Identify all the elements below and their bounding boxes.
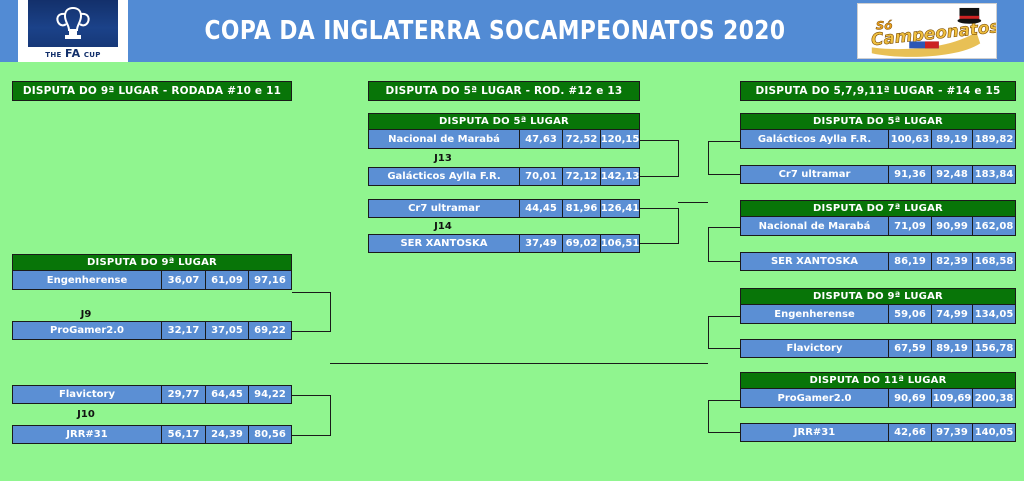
banner-right: DISPUTA DO 5,7,9,11ª LUGAR - #14 e 15: [740, 81, 1016, 101]
leg1-score: 36,07: [161, 271, 205, 289]
center-match-j13-row2: Galácticos Aylla F.R. 70,01 72,12 142,13: [368, 167, 640, 186]
right-group-7: DISPUTA DO 7ª LUGAR Nacional de Marabá 7…: [740, 200, 1016, 236]
right-group-title: DISPUTA DO 11ª LUGAR: [740, 372, 1016, 389]
total-score: 94,22: [248, 386, 291, 403]
table-row[interactable]: Galácticos Aylla F.R. 70,01 72,12 142,13: [368, 167, 640, 186]
right-group-5: DISPUTA DO 5ª LUGAR Galácticos Aylla F.R…: [740, 113, 1016, 149]
right-group-9: DISPUTA DO 9ª LUGAR Engenherense 59,06 7…: [740, 288, 1016, 324]
leg2-score: 81,96: [562, 200, 600, 217]
leg2-score: 89,19: [931, 130, 972, 148]
leg1-score: 71,09: [888, 217, 931, 235]
team-name: JRR#31: [741, 424, 888, 441]
total-score: 106,51: [600, 235, 639, 252]
leg2-score: 64,45: [205, 386, 248, 403]
team-name: Engenherense: [741, 305, 888, 323]
center-match-j14-row2: SER XANTOSKA 37,49 69,02 106,51: [368, 234, 640, 253]
connector-line: [708, 432, 740, 433]
match-label: J10: [12, 409, 160, 420]
center-match-j14-row1: Cr7 ultramar 44,45 81,96 126,41: [368, 199, 640, 218]
connector-line: [708, 400, 740, 401]
team-name: Nacional de Marabá: [369, 130, 519, 148]
connector-line: [678, 202, 708, 203]
table-row[interactable]: ProGamer2.0 90,69 109,69 200,38: [740, 389, 1016, 408]
connector-line: [708, 348, 740, 349]
connector-line: [292, 395, 330, 396]
connector-line: [292, 435, 330, 436]
total-score: 162,08: [972, 217, 1015, 235]
page-header: THE FA CUP COPA DA INGLATERRA SOCAMPEONA…: [0, 0, 1024, 62]
table-row[interactable]: Flavictory 67,59 89,19 156,78: [740, 339, 1016, 358]
table-row[interactable]: Cr7 ultramar 91,36 92,48 183,84: [740, 165, 1016, 184]
left-match-j10-row2: JRR#31 56,17 24,39 80,56: [12, 425, 292, 444]
table-row[interactable]: Nacional de Marabá 47,63 72,52 120,15: [368, 130, 640, 149]
total-score: 140,05: [972, 424, 1015, 441]
table-row[interactable]: Engenherense 36,07 61,09 97,16: [12, 271, 292, 290]
team-name: Flavictory: [741, 340, 888, 357]
leg1-score: 37,49: [519, 235, 562, 252]
right-group-11: DISPUTA DO 11ª LUGAR ProGamer2.0 90,69 1…: [740, 372, 1016, 408]
leg2-score: 97,39: [931, 424, 972, 441]
leg2-score: 24,39: [205, 426, 248, 443]
connector-line: [640, 140, 678, 141]
connector-line: [708, 227, 709, 262]
total-score: 80,56: [248, 426, 291, 443]
leg2-score: 109,69: [931, 389, 972, 407]
connector-line: [708, 141, 740, 142]
team-name: Galácticos Aylla F.R.: [741, 130, 888, 148]
team-name: ProGamer2.0: [741, 389, 888, 407]
leg2-score: 61,09: [205, 271, 248, 289]
total-score: 168,58: [972, 253, 1015, 270]
right-group-title: DISPUTA DO 5ª LUGAR: [740, 113, 1016, 130]
leg1-score: 42,66: [888, 424, 931, 441]
left-group: DISPUTA DO 9ª LUGAR Engenherense 36,07 6…: [12, 254, 292, 290]
right-group-11-row2: JRR#31 42,66 97,39 140,05: [740, 423, 1016, 442]
connector-line: [708, 316, 709, 349]
table-row[interactable]: Galácticos Aylla F.R. 100,63 89,19 189,8…: [740, 130, 1016, 149]
leg1-score: 90,69: [888, 389, 931, 407]
table-row[interactable]: JRR#31 56,17 24,39 80,56: [12, 425, 292, 444]
leg2-score: 92,48: [931, 166, 972, 183]
leg2-score: 82,39: [931, 253, 972, 270]
fa-cup-wordmark: THE FA CUP: [28, 47, 118, 62]
connector-line: [708, 174, 740, 175]
leg2-score: 74,99: [931, 305, 972, 323]
fa-cup-the: THE: [45, 51, 61, 59]
table-row[interactable]: SER XANTOSKA 86,19 82,39 168,58: [740, 252, 1016, 271]
total-score: 69,22: [248, 322, 291, 339]
center-group: DISPUTA DO 5ª LUGAR Nacional de Marabá 4…: [368, 113, 640, 149]
leg2-score: 72,12: [562, 168, 600, 185]
right-group-7-row2: SER XANTOSKA 86,19 82,39 168,58: [740, 252, 1016, 271]
leg1-score: 56,17: [161, 426, 205, 443]
team-name: Engenherense: [13, 271, 161, 289]
socampeonatos-mark: Só Campeonatos: [858, 4, 996, 59]
total-score: 134,05: [972, 305, 1015, 323]
socampeonatos-logo: Só Campeonatos: [857, 3, 997, 59]
fa-cup-fa: FA: [65, 47, 80, 60]
team-name: Cr7 ultramar: [741, 166, 888, 183]
leg1-score: 29,77: [161, 386, 205, 403]
connector-line: [708, 316, 740, 317]
connector-line: [330, 363, 708, 364]
total-score: 189,82: [972, 130, 1015, 148]
connector-line: [292, 292, 330, 293]
connector-line: [330, 395, 331, 436]
leg1-score: 67,59: [888, 340, 931, 357]
connector-line: [678, 140, 679, 177]
total-score: 97,16: [248, 271, 291, 289]
leg1-score: 59,06: [888, 305, 931, 323]
connector-line: [330, 292, 331, 332]
right-group-5-row2: Cr7 ultramar 91,36 92,48 183,84: [740, 165, 1016, 184]
fa-cup-cup: CUP: [84, 51, 101, 59]
total-score: 183,84: [972, 166, 1015, 183]
table-row[interactable]: SER XANTOSKA 37,49 69,02 106,51: [368, 234, 640, 253]
connector-line: [640, 243, 678, 244]
team-name: Flavictory: [13, 386, 161, 403]
match-label: J9: [12, 309, 160, 320]
left-match-j10-row1: Flavictory 29,77 64,45 94,22: [12, 385, 292, 404]
team-name: Galácticos Aylla F.R.: [369, 168, 519, 185]
team-name: ProGamer2.0: [13, 322, 161, 339]
table-row[interactable]: ProGamer2.0 32,17 37,05 69,22: [12, 321, 292, 340]
leg1-score: 100,63: [888, 130, 931, 148]
fa-cup-logo: THE FA CUP: [18, 0, 128, 62]
total-score: 156,78: [972, 340, 1015, 357]
trophy-icon: [50, 4, 96, 44]
connector-line: [708, 400, 709, 433]
connector-line: [708, 141, 709, 175]
center-group-title: DISPUTA DO 5ª LUGAR: [368, 113, 640, 130]
right-group-title: DISPUTA DO 9ª LUGAR: [740, 288, 1016, 305]
leg2-score: 69,02: [562, 235, 600, 252]
team-name: SER XANTOSKA: [741, 253, 888, 270]
right-group-title: DISPUTA DO 7ª LUGAR: [740, 200, 1016, 217]
connector-line: [708, 261, 740, 262]
table-row[interactable]: JRR#31 42,66 97,39 140,05: [740, 423, 1016, 442]
connector-line: [292, 331, 330, 332]
leg1-score: 32,17: [161, 322, 205, 339]
bracket-page: THE FA CUP COPA DA INGLATERRA SOCAMPEONA…: [0, 0, 1024, 481]
team-name: SER XANTOSKA: [369, 235, 519, 252]
total-score: 200,38: [972, 389, 1015, 407]
team-name: JRR#31: [13, 426, 161, 443]
table-row[interactable]: Engenherense 59,06 74,99 134,05: [740, 305, 1016, 324]
leg2-score: 37,05: [205, 322, 248, 339]
connector-line: [640, 176, 678, 177]
leg2-score: 90,99: [931, 217, 972, 235]
table-row[interactable]: Cr7 ultramar 44,45 81,96 126,41: [368, 199, 640, 218]
connector-line: [640, 208, 678, 209]
banner-left: DISPUTA DO 9ª LUGAR - RODADA #10 e 11: [12, 81, 292, 101]
right-group-9-row2: Flavictory 67,59 89,19 156,78: [740, 339, 1016, 358]
leg1-score: 47,63: [519, 130, 562, 148]
left-match-j9-row2: ProGamer2.0 32,17 37,05 69,22: [12, 321, 292, 340]
total-score: 126,41: [600, 200, 639, 217]
leg2-score: 72,52: [562, 130, 600, 148]
total-score: 120,15: [600, 130, 639, 148]
leg1-score: 91,36: [888, 166, 931, 183]
total-score: 142,13: [600, 168, 639, 185]
match-label: J14: [368, 221, 518, 232]
table-row[interactable]: Flavictory 29,77 64,45 94,22: [12, 385, 292, 404]
table-row[interactable]: Nacional de Marabá 71,09 90,99 162,08: [740, 217, 1016, 236]
team-name: Cr7 ultramar: [369, 200, 519, 217]
leg1-score: 70,01: [519, 168, 562, 185]
team-name: Nacional de Marabá: [741, 217, 888, 235]
leg2-score: 89,19: [931, 340, 972, 357]
leg1-score: 86,19: [888, 253, 931, 270]
connector-line: [708, 227, 740, 228]
left-group-title: DISPUTA DO 9ª LUGAR: [12, 254, 292, 271]
header-underline: [0, 62, 1024, 67]
page-title: COPA DA INGLATERRA SOCAMPEONATOS 2020: [165, 0, 825, 62]
leg1-score: 44,45: [519, 200, 562, 217]
match-label: J13: [368, 153, 518, 164]
connector-line: [678, 208, 679, 244]
banner-center: DISPUTA DO 5ª LUGAR - ROD. #12 e 13: [368, 81, 640, 101]
